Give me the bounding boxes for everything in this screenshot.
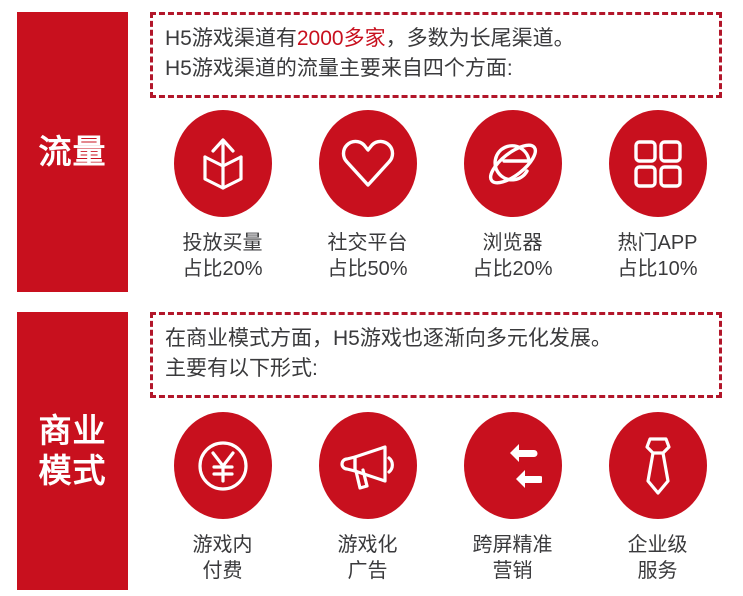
- callout-text-pre: 在商业模式方面，H5游戏也逐渐向多元化发展。: [165, 327, 612, 350]
- callout-text-post: ，多数为长尾渠道。: [386, 27, 575, 50]
- callout-text-pre: H5游戏渠道有: [165, 27, 297, 50]
- icon-caption: 热门APP 占比10%: [617, 231, 697, 282]
- callout-box-business: 在商业模式方面，H5游戏也逐渐向多元化发展。 主要有以下形式:: [150, 312, 722, 398]
- icon-row-business: 游戏内 付费 游戏化 广告: [150, 412, 730, 584]
- icon-row-traffic: 投放买量 占比20% 社交平台 占比50% 浏览器 占比20%: [150, 110, 730, 282]
- infographic-root: 流量 H5游戏渠道有2000多家，多数为长尾渠道。 H5游戏渠道的流量主要来自四…: [0, 0, 743, 596]
- icon-caption: 游戏化 广告: [338, 533, 398, 584]
- icon-cell-traffic-4[interactable]: 热门APP 占比10%: [585, 110, 730, 282]
- app-grid-icon: [609, 110, 707, 217]
- exchange-arrows-icon: [464, 412, 562, 519]
- callout-line-2: H5游戏渠道的流量主要来自四个方面:: [165, 54, 707, 84]
- callout-line-2: 主要有以下形式:: [165, 354, 707, 384]
- icon-caption: 跨屏精准 营销: [473, 533, 553, 584]
- section-business: 商业 模式 在商业模式方面，H5游戏也逐渐向多元化发展。 主要有以下形式: 游戏…: [0, 300, 743, 596]
- icon-caption: 游戏内 付费: [193, 533, 253, 584]
- section-traffic: 流量 H5游戏渠道有2000多家，多数为长尾渠道。 H5游戏渠道的流量主要来自四…: [0, 0, 743, 300]
- icon-cell-traffic-2[interactable]: 社交平台 占比50%: [295, 110, 440, 282]
- callout-text-highlight: 2000多家: [297, 27, 386, 50]
- icon-caption: 社交平台 占比50%: [327, 231, 407, 282]
- icon-cell-business-3[interactable]: 跨屏精准 营销: [440, 412, 585, 584]
- section-tab-business: 商业 模式: [17, 312, 128, 590]
- icon-cell-business-4[interactable]: 企业级 服务: [585, 412, 730, 584]
- browser-orbit-icon: [464, 110, 562, 217]
- icon-cell-traffic-3[interactable]: 浏览器 占比20%: [440, 110, 585, 282]
- section-tab-traffic: 流量: [17, 12, 128, 292]
- yuan-coin-icon: [174, 412, 272, 519]
- icon-caption: 企业级 服务: [628, 533, 688, 584]
- heart-icon: [319, 110, 417, 217]
- callout-line-1: H5游戏渠道有2000多家，多数为长尾渠道。: [165, 24, 707, 54]
- megaphone-icon: [319, 412, 417, 519]
- icon-cell-business-2[interactable]: 游戏化 广告: [295, 412, 440, 584]
- icon-cell-traffic-1[interactable]: 投放买量 占比20%: [150, 110, 295, 282]
- callout-box-traffic: H5游戏渠道有2000多家，多数为长尾渠道。 H5游戏渠道的流量主要来自四个方面…: [150, 12, 722, 98]
- box-upload-icon: [174, 110, 272, 217]
- section-tab-label: 流量: [39, 132, 107, 172]
- icon-caption: 浏览器 占比20%: [472, 231, 552, 282]
- icon-caption: 投放买量 占比20%: [182, 231, 262, 282]
- callout-line-1: 在商业模式方面，H5游戏也逐渐向多元化发展。: [165, 324, 707, 354]
- section-tab-label: 商业 模式: [39, 411, 107, 492]
- icon-cell-business-1[interactable]: 游戏内 付费: [150, 412, 295, 584]
- necktie-icon: [609, 412, 707, 519]
